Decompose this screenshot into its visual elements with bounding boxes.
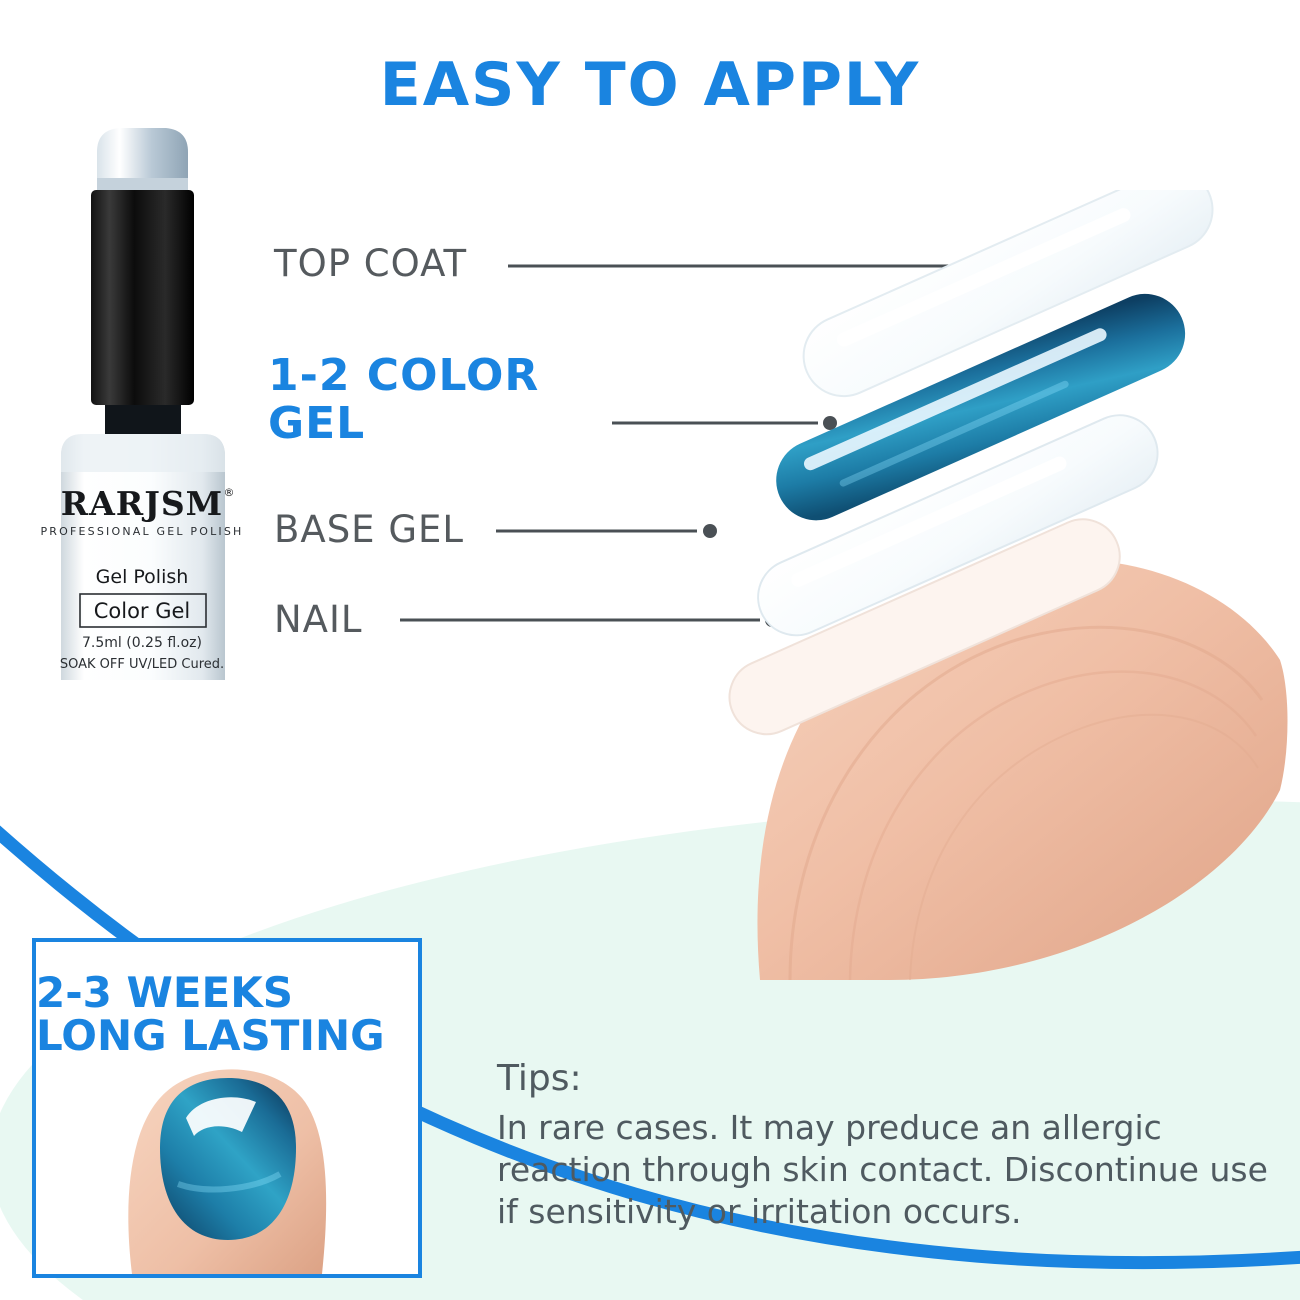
svg-text:Color Gel: Color Gel	[94, 599, 191, 623]
tips-title: Tips:	[497, 1058, 1277, 1099]
callout-label-base-gel: BASE GEL	[274, 510, 464, 550]
tips-body: In rare cases. It may preduce an allergi…	[497, 1107, 1277, 1234]
svg-text:SOAK OFF UV/LED Cured.: SOAK OFF UV/LED Cured.	[60, 657, 224, 672]
svg-text:7.5ml (0.25 fl.oz): 7.5ml (0.25 fl.oz)	[82, 635, 202, 651]
callout-label-nail: NAIL	[274, 600, 363, 640]
svg-text:PROFESSIONAL GEL POLISH: PROFESSIONAL GEL POLISH	[40, 525, 243, 538]
tips-section: Tips: In rare cases. It may preduce an a…	[497, 1058, 1277, 1234]
product-bottle-image: RARJSM ® PROFESSIONAL GEL POLISH Gel Pol…	[25, 110, 260, 680]
svg-text:RARJSM: RARJSM	[61, 484, 223, 523]
svg-text:®: ®	[224, 486, 235, 499]
svg-text:Gel Polish: Gel Polish	[96, 566, 189, 588]
nail-layer-diagram	[590, 190, 1300, 980]
callout-label-top-coat: TOP COAT	[274, 244, 467, 284]
callout-label-color-gel: 1-2 COLOR GEL	[268, 352, 539, 447]
swatch-title: 2-3 WEEKS LONG LASTING	[36, 972, 436, 1058]
